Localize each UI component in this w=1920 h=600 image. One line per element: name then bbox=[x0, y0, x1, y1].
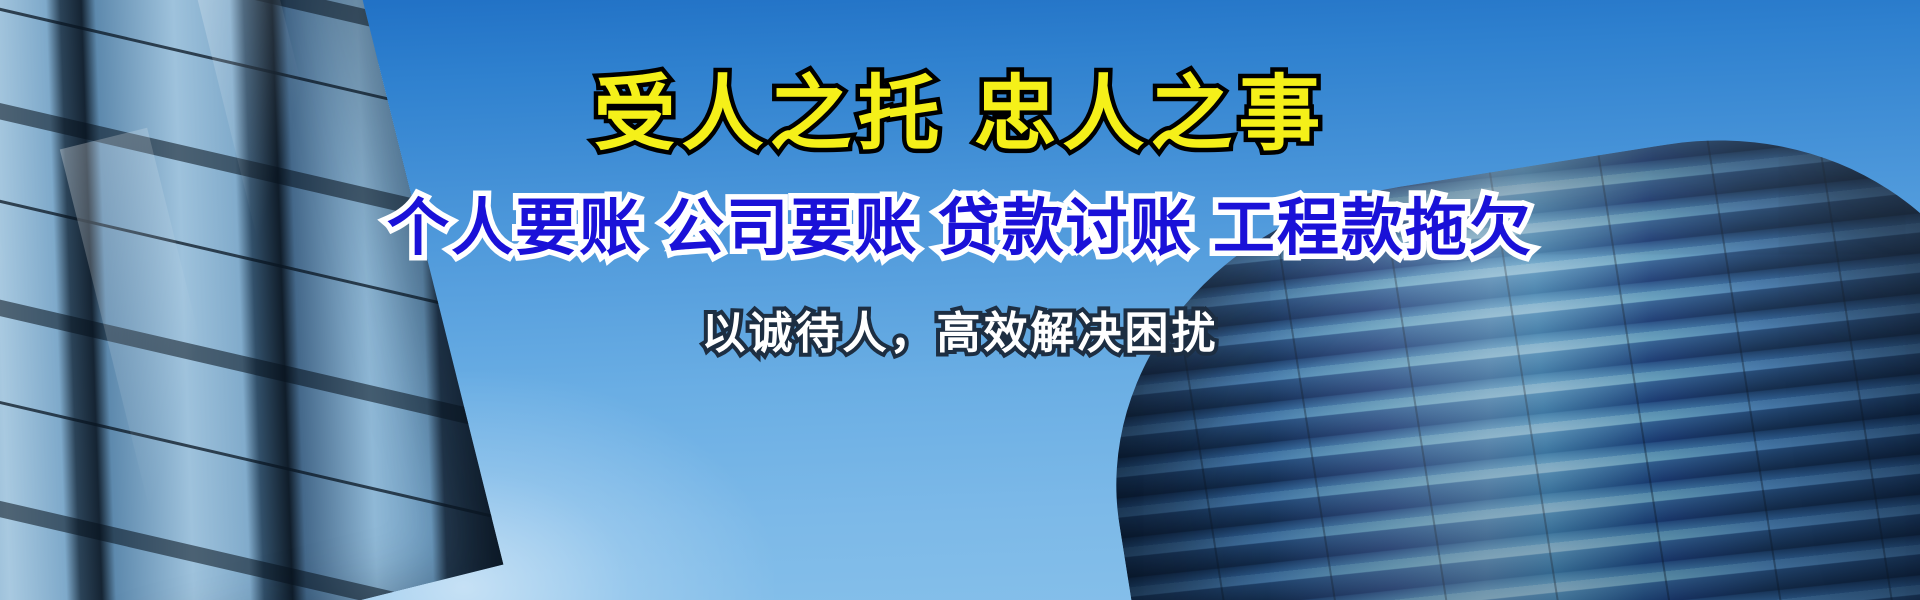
promo-banner: 受人之托 忠人之事 个人要账 公司要账 贷款讨账 工程款拖欠 以诚待人，高效解决… bbox=[0, 0, 1920, 600]
